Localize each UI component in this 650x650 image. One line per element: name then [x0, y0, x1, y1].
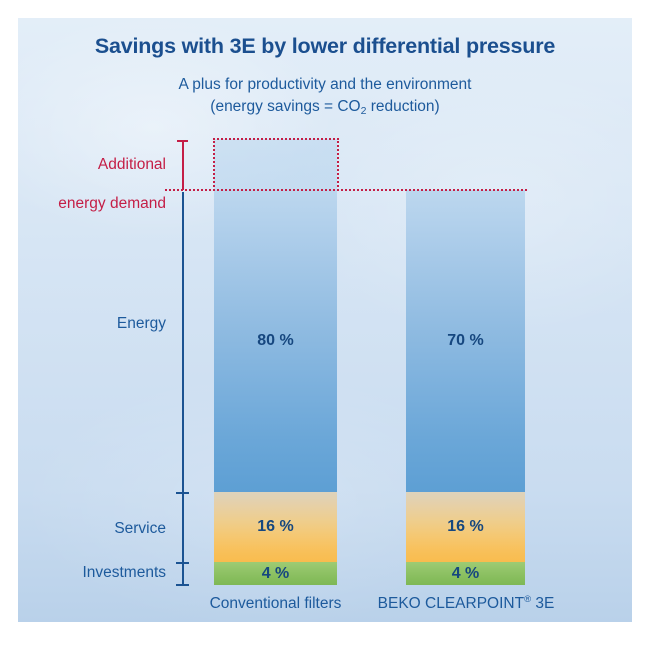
bar-segment-investments-label: 4 % [262, 565, 290, 583]
bar-segment-service-label: 16 % [447, 518, 483, 536]
bar-segment-investments: 4 % [214, 562, 337, 585]
axis-label-energy: Energy [18, 314, 166, 333]
bar-segment-energy-label: 80 % [257, 332, 293, 350]
axis-label-additional-line1: Additional [18, 155, 166, 174]
category-label-beko-clearpoint-3e: BEKO CLEARPOINT® 3E [376, 595, 556, 613]
subtitle-co2-post: reduction) [366, 98, 439, 115]
bar-beko-clearpoint-3e: 70 % 16 % 4 % [406, 190, 525, 585]
chart-title: Savings with 3E by lower differential pr… [18, 34, 632, 59]
axis-label-additional-line2: energy demand [18, 194, 166, 213]
axis-label-investments: Investments [18, 563, 166, 582]
subtitle-co2-pre: (energy savings = CO [210, 98, 360, 115]
axis-tick-service-investments [176, 562, 189, 564]
bar-conventional-filters: 80 % 16 % 4 % [214, 190, 337, 585]
additional-demand-dotted-box [213, 138, 339, 191]
chart-subtitle-line2: (energy savings = CO2 reduction) [18, 96, 632, 118]
bar-segment-energy: 80 % [214, 190, 337, 492]
category-label-beko-suffix: 3E [531, 595, 554, 612]
chart-panel: Savings with 3E by lower differential pr… [18, 18, 632, 622]
bar-segment-investments-label: 4 % [452, 565, 480, 583]
category-label-conventional-filters: Conventional filters [204, 595, 347, 613]
bar-segment-service-label: 16 % [257, 518, 293, 536]
chart-subtitle-line1: A plus for productivity and the environm… [18, 74, 632, 96]
bar-segment-service: 16 % [406, 492, 525, 562]
axis-label-additional-energy-demand: Additional energy demand [18, 136, 166, 233]
axis-tick-energy-service [176, 492, 189, 494]
bar-segment-investments: 4 % [406, 562, 525, 585]
category-axis-line [182, 192, 184, 585]
additional-demand-bracket-line [182, 140, 184, 190]
category-label-beko-text: BEKO CLEARPOINT [378, 595, 524, 612]
bar-segment-energy-label: 70 % [447, 332, 483, 350]
chart-subtitle: A plus for productivity and the environm… [18, 74, 632, 118]
subtitle-co2-subscript: 2 [361, 105, 367, 117]
axis-label-service: Service [18, 519, 166, 538]
bar-segment-service: 16 % [214, 492, 337, 562]
axis-tick-baseline [176, 584, 189, 586]
bar-segment-energy: 70 % [406, 190, 525, 492]
chart-image: Savings with 3E by lower differential pr… [0, 0, 650, 650]
